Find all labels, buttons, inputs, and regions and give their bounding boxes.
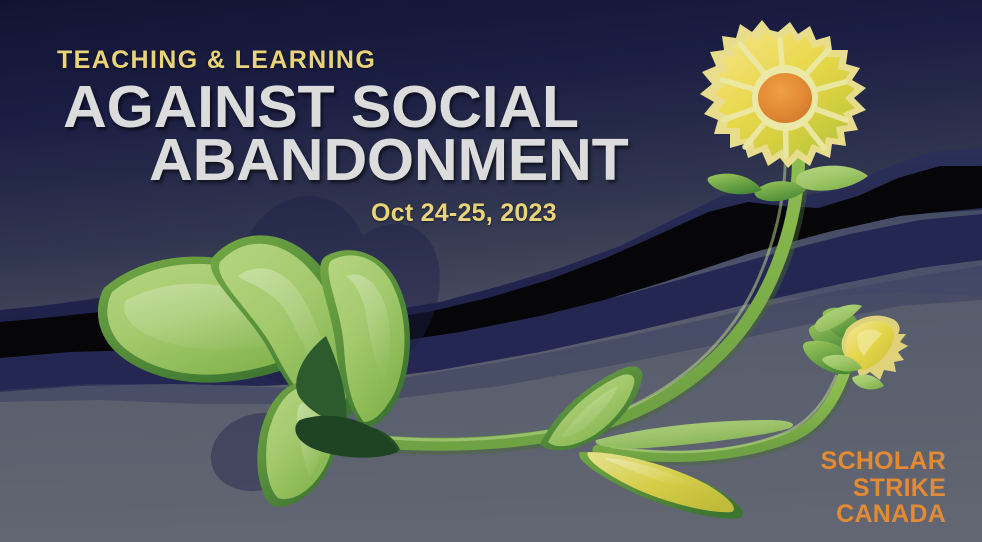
event-date: Oct 24-25, 2023 <box>371 199 557 228</box>
headline-line-2: ABANDONMENT <box>149 131 628 190</box>
wordmark-line-1: SCHOLAR <box>821 448 946 475</box>
scholar-strike-canada-wordmark: SCHOLAR STRIKE CANADA <box>821 448 946 528</box>
wordmark-line-2: STRIKE <box>821 475 946 502</box>
wordmark-line-3: CANADA <box>821 501 946 528</box>
flower-center-disc <box>758 73 812 123</box>
event-promo-banner: TEACHING & LEARNING AGAINST SOCIAL ABAND… <box>0 0 982 542</box>
eyebrow-heading: TEACHING & LEARNING <box>57 46 376 75</box>
